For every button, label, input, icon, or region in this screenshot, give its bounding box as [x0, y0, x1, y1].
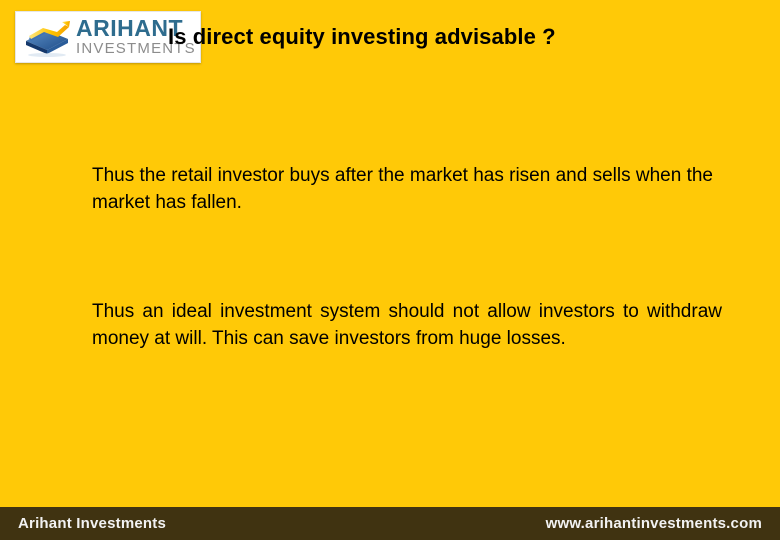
footer-website[interactable]: www.arihantinvestments.com — [546, 515, 762, 532]
footer-company-name: Arihant Investments — [18, 515, 166, 532]
body-paragraph-2: Thus an ideal investment system should n… — [92, 298, 722, 352]
presentation-slide: ARIHANT INVESTMENTS Is direct equity inv… — [0, 0, 780, 540]
body-paragraph-1: Thus the retail investor buys after the … — [92, 162, 722, 216]
slide-footer: Arihant Investments www.arihantinvestmen… — [0, 507, 780, 540]
page-title: Is direct equity investing advisable ? — [168, 24, 556, 50]
slide-body: Thus the retail investor buys after the … — [92, 162, 722, 352]
arihant-book-arrow-icon — [22, 17, 72, 57]
